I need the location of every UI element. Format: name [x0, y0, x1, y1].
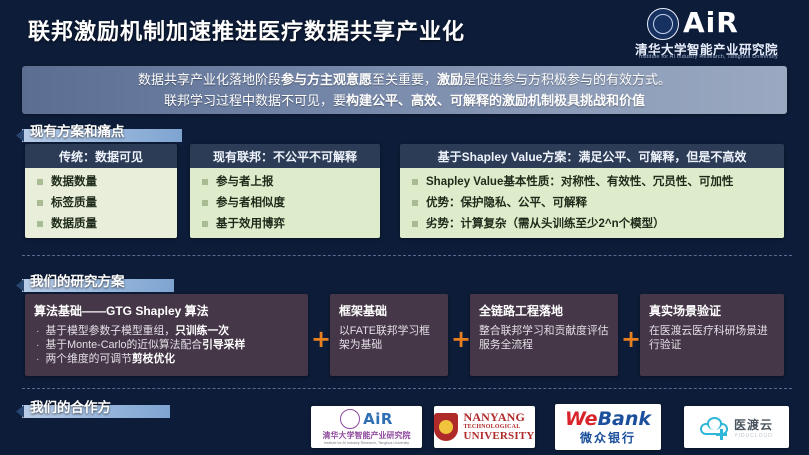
- banner-l1-c: 至关重要，: [372, 72, 437, 87]
- slide-root: 联邦激励机制加速推进医疗数据共享产业化 AiR 清华大学智能产业研究院 Inst…: [0, 0, 809, 455]
- list-item-label: 基于模型参数子模型重组，只训练一次: [46, 324, 230, 338]
- section-notch-icon: [16, 129, 24, 142]
- square-bullet-icon: [202, 200, 208, 206]
- list-item: 数据质量: [33, 217, 169, 231]
- webank-we: We: [565, 408, 598, 430]
- card-title: 现有联邦：不公平不可解释: [190, 144, 380, 168]
- section-label: 现有方案和痛点: [30, 120, 125, 140]
- list-item-label: 参与者上报: [216, 175, 274, 189]
- list-item: · 基于模型参数子模型重组，只训练一次: [34, 324, 299, 338]
- banner-l1-b: 参与方主观意愿: [281, 72, 372, 87]
- plus-icon-1: +: [311, 327, 331, 351]
- section-label: 我们的合作方: [30, 396, 111, 416]
- card-body: Shapley Value基本性质：对称性、有效性、冗员性、可加性 优势：保护隐…: [400, 168, 784, 238]
- banner-l1-d: 激励: [437, 72, 463, 87]
- square-bullet-icon: [37, 179, 43, 185]
- section-divider: [22, 388, 792, 389]
- banner-line-2: 联邦学习过程中数据不可见，要构建公平、高效、可解释的激励机制极具挑战和价值: [164, 90, 645, 111]
- list-item: 优势：保护隐私、公平、可解释: [408, 196, 776, 210]
- dot-bullet-icon: ·: [36, 352, 40, 366]
- ntu-crest-icon: [434, 413, 458, 441]
- card-title: 基于Shapley Value方案：满足公平、可解释，但是不高效: [400, 144, 784, 168]
- square-bullet-icon: [202, 221, 208, 227]
- air-acronym: AiR: [683, 6, 739, 39]
- list-item-label: 数据质量: [51, 217, 97, 231]
- page-title: 联邦激励机制加速推进医疗数据共享产业化: [28, 14, 465, 46]
- webank-en: WeBank: [565, 409, 651, 429]
- list-item: 参与者相似度: [198, 196, 372, 210]
- tsinghua-seal-icon: [340, 409, 360, 429]
- research-card-body: 在医渡云医疗科研场景进行验证: [649, 324, 775, 352]
- list-item: 劣势：计算复杂（需从头训练至少2^n个模型）: [408, 217, 776, 231]
- partner-logo-webank: WeBank 微众银行: [555, 404, 661, 450]
- banner-l1-a: 数据共享产业化落地阶段: [138, 72, 281, 87]
- banner-l2-b: 构建公平、高效、可解释的激励机制极具挑战和价值: [346, 93, 645, 108]
- list-item: 标签质量: [33, 196, 169, 210]
- banner-l2-a: 联邦学习过程中数据不可见，要: [164, 93, 346, 108]
- dot-bullet-icon: ·: [36, 338, 40, 352]
- pain-card-existing-federated: 现有联邦：不公平不可解释 参与者上报 参与者相似度 基于效用博弈: [190, 144, 380, 238]
- research-card-framework: 框架基础 以FATE联邦学习框架为基础: [330, 294, 448, 376]
- partner-logo-air: AiR 清华大学智能产业研究院 Institute for AI Industr…: [311, 406, 422, 448]
- list-item-label: 基于Monte-Carlo的近似算法配合引导采样: [46, 338, 246, 352]
- card-body: 数据数量 标签质量 数据质量: [25, 168, 177, 238]
- research-card-validation: 真实场景验证 在医渡云医疗科研场景进行验证: [640, 294, 784, 376]
- air-logo: AiR 清华大学智能产业研究院 Institute for AI Industr…: [629, 6, 801, 62]
- research-card-algorithm: 算法基础——GTG Shapley 算法 · 基于模型参数子模型重组，只训练一次…: [25, 294, 308, 376]
- list-item-label: 两个维度的可调节剪枝优化: [46, 352, 176, 366]
- summary-banner: 数据共享产业化落地阶段参与方主观意愿至关重要，激励是促进参与方积极参与的有效方式…: [22, 66, 787, 114]
- list-item-label: 参与者相似度: [216, 196, 285, 210]
- ntu-line-3: UNIVERSITY: [463, 431, 534, 442]
- research-card-title: 算法基础——GTG Shapley 算法: [34, 302, 299, 319]
- ntu-line-1: NANYANG: [463, 412, 534, 423]
- partner-logo-yiducloud: 医渡云 YIDUCLOUD: [684, 406, 789, 448]
- list-item: 数据数量: [33, 175, 169, 189]
- section-notch-icon: [16, 279, 24, 292]
- pain-card-traditional: 传统：数据可见 数据数量 标签质量 数据质量: [25, 144, 177, 238]
- cloud-plus-icon: [700, 417, 728, 437]
- list-item: · 两个维度的可调节剪枝优化: [34, 352, 299, 366]
- list-item: 基于效用博弈: [198, 217, 372, 231]
- square-bullet-icon: [37, 221, 43, 227]
- square-bullet-icon: [412, 179, 418, 185]
- webank-bank: Bank: [598, 408, 651, 430]
- banner-line-1: 数据共享产业化落地阶段参与方主观意愿至关重要，激励是促进参与方积极参与的有效方式…: [138, 69, 671, 90]
- plus-icon-3: +: [621, 327, 641, 351]
- research-card-title: 全链路工程落地: [479, 302, 609, 319]
- list-item: · 基于Monte-Carlo的近似算法配合引导采样: [34, 338, 299, 352]
- square-bullet-icon: [37, 200, 43, 206]
- section-divider: [22, 255, 792, 256]
- tsinghua-seal-icon: [647, 8, 679, 40]
- research-card-body: 以FATE联邦学习框架为基础: [339, 324, 439, 352]
- card-body: 参与者上报 参与者相似度 基于效用博弈: [190, 168, 380, 238]
- square-bullet-icon: [412, 221, 418, 227]
- list-item-label: 数据数量: [51, 175, 97, 189]
- webank-cn: 微众银行: [580, 429, 636, 446]
- yiducloud-cn: 医渡云: [734, 416, 773, 433]
- square-bullet-icon: [202, 179, 208, 185]
- yiducloud-en: YIDUCLOUD: [734, 433, 773, 439]
- plus-icon-2: +: [451, 327, 471, 351]
- air-cn-label: 清华大学智能产业研究院: [323, 430, 411, 441]
- list-item-label: 基于效用博弈: [216, 217, 285, 231]
- banner-l1-e: 是促进参与方积极参与的有效方式。: [463, 72, 671, 87]
- research-card-engineering: 全链路工程落地 整合联邦学习和贡献度评估服务全流程: [470, 294, 618, 376]
- list-item: Shapley Value基本性质：对称性、有效性、冗员性、可加性: [408, 175, 776, 189]
- partner-logo-ntu: NANYANG TECHNOLOGICAL UNIVERSITY: [434, 406, 535, 448]
- square-bullet-icon: [412, 200, 418, 206]
- list-item: 参与者上报: [198, 175, 372, 189]
- yiducloud-text: 医渡云 YIDUCLOUD: [734, 416, 773, 439]
- air-logo-row: AiR: [340, 409, 393, 429]
- ntu-text: NANYANG TECHNOLOGICAL UNIVERSITY: [463, 412, 534, 442]
- slide-header: 联邦激励机制加速推进医疗数据共享产业化 AiR 清华大学智能产业研究院 Inst…: [0, 0, 809, 62]
- research-card-title: 框架基础: [339, 302, 439, 319]
- section-label: 我们的研究方案: [30, 270, 125, 290]
- pain-card-shapley: 基于Shapley Value方案：满足公平、可解释，但是不高效 Shapley…: [400, 144, 784, 238]
- air-acronym: AiR: [363, 410, 393, 428]
- research-card-body: 整合联邦学习和贡献度评估服务全流程: [479, 324, 609, 352]
- air-en-label: Institute for AI Industry Research, Tsin…: [324, 441, 409, 445]
- section-notch-icon: [16, 405, 24, 418]
- list-item-label: 优势：保护隐私、公平、可解释: [426, 196, 587, 210]
- air-logo-en: Institute for AI Industry Research, Tsin…: [639, 54, 778, 60]
- list-item-label: Shapley Value基本性质：对称性、有效性、冗员性、可加性: [426, 175, 733, 189]
- list-item-label: 劣势：计算复杂（需从头训练至少2^n个模型）: [426, 217, 665, 231]
- research-card-title: 真实场景验证: [649, 302, 775, 319]
- dot-bullet-icon: ·: [36, 324, 40, 338]
- list-item-label: 标签质量: [51, 196, 97, 210]
- card-title: 传统：数据可见: [25, 144, 177, 168]
